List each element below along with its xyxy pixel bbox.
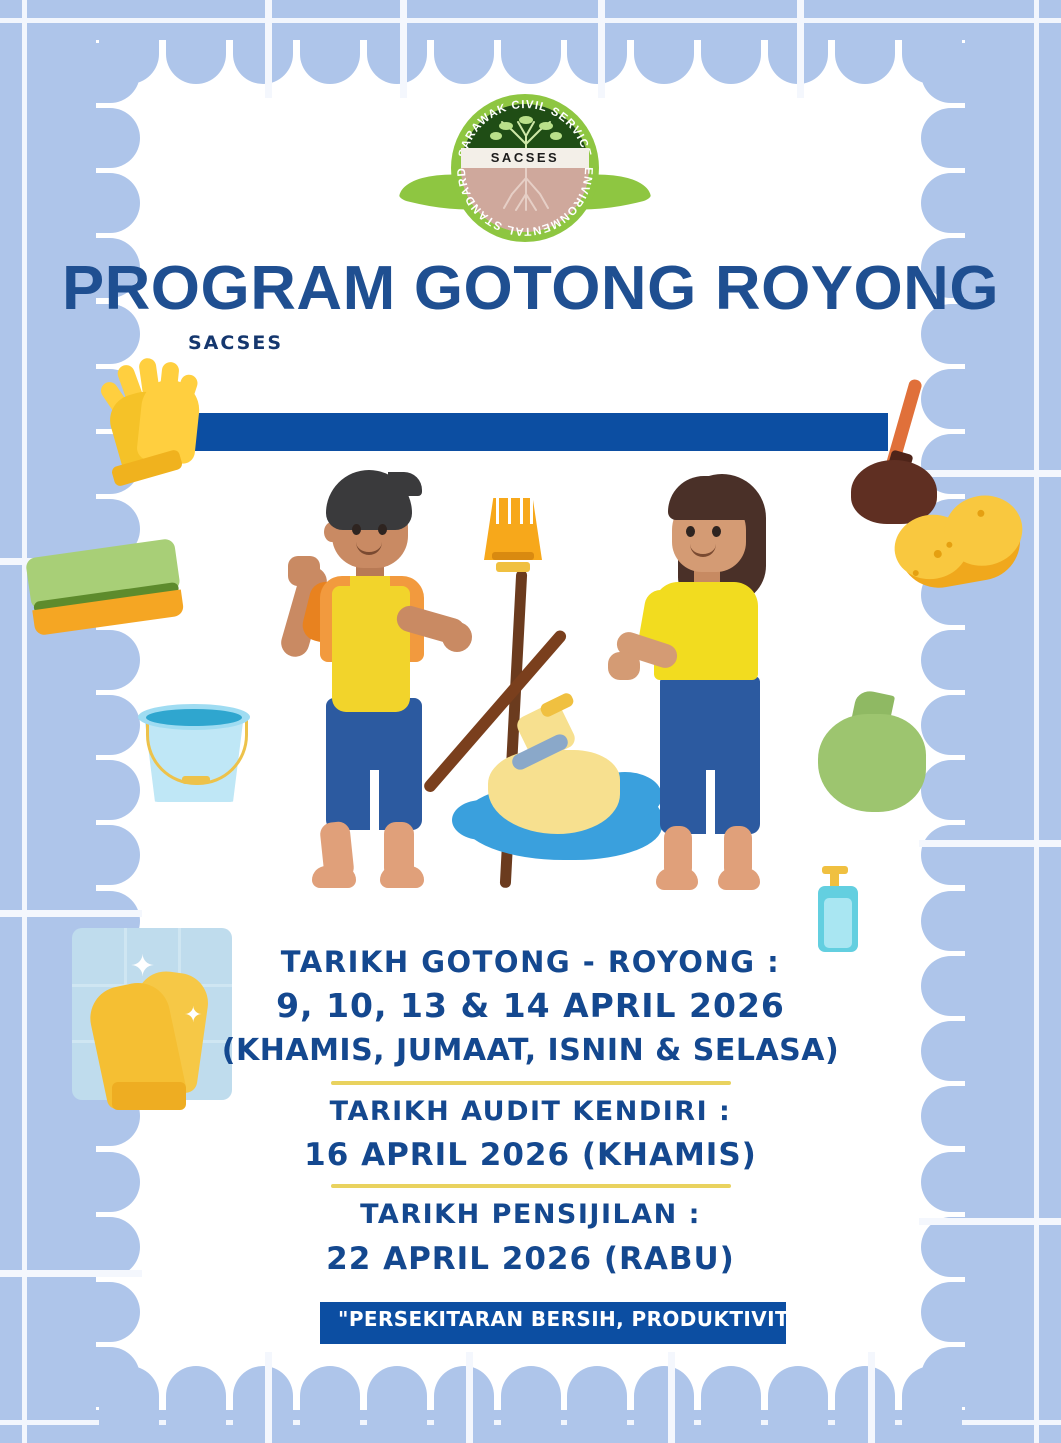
perforation-gap (466, 1352, 473, 1443)
frame-line-top (0, 18, 1061, 23)
perforation-gap (797, 0, 804, 98)
audit-date: 16 APRIL 2026 (KHAMIS) (0, 1133, 1061, 1177)
sacses-logo: SARAWAK CIVIL SERVICE ENVIRONMENTAL STAN… (400, 92, 650, 227)
pensijilan-label: TARIKH PENSIJILAN : (0, 1194, 1061, 1236)
logo-center-text: SACSES (461, 147, 589, 169)
girl-with-mop-illustration (620, 470, 810, 900)
gotong-royong-date: 9, 10, 13 & 14 APRIL 2026 (0, 984, 1061, 1028)
frame-line-bottom (0, 1420, 1061, 1425)
perforation-gap (0, 910, 142, 917)
gotong-royong-label: TARIKH GOTONG - ROYONG : (0, 940, 1061, 984)
perforation-gap (919, 840, 1061, 847)
date-block: TARIKH GOTONG - ROYONG : 9, 10, 13 & 14 … (0, 940, 1061, 1282)
pensijilan-date: 22 APRIL 2026 (RABU) (0, 1236, 1061, 1282)
page-title: PROGRAM GOTONG ROYONG (0, 253, 1061, 324)
perforation-gap (598, 0, 605, 98)
poster-canvas: SARAWAK CIVIL SERVICE ENVIRONMENTAL STAN… (0, 0, 1061, 1443)
perforation-gap (668, 1352, 675, 1443)
gotong-royong-days: (KHAMIS, JUMAAT, ISNIN & SELASA) (0, 1028, 1061, 1074)
perforation-gap (265, 1352, 272, 1443)
perforation-gap (265, 0, 272, 98)
boy-with-broom-illustration (284, 470, 484, 900)
perforation-gap (868, 1352, 875, 1443)
divider-2 (331, 1184, 731, 1188)
perforation-gap (400, 0, 407, 98)
rubber-gloves-icon (96, 358, 216, 478)
header-accent-bar (182, 413, 888, 451)
soap-dispenser-icon (812, 862, 864, 952)
tree-roots-icon (476, 114, 576, 226)
garbage-bag-icon (818, 692, 928, 814)
divider-1 (331, 1081, 731, 1085)
quote-banner-text: "PERSEKITARAN BERSIH, PRODUKTIVITI MENIN… (338, 1307, 1038, 1331)
bucket-icon (138, 700, 250, 802)
audit-label: TARIKH AUDIT KENDIRI : (0, 1091, 1061, 1133)
page-subtitle: SACSES (188, 332, 283, 354)
